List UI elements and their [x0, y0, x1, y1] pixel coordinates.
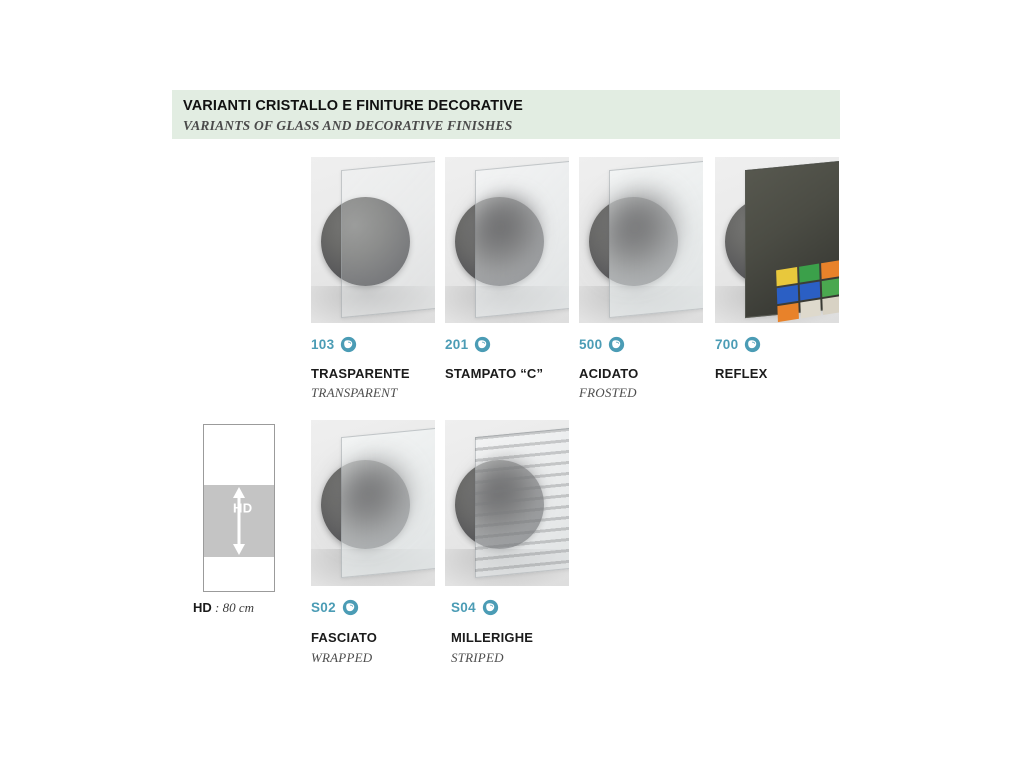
glass-sample-icon — [608, 336, 625, 353]
sample-code: S04 — [451, 600, 476, 615]
hd-dimension-diagram: HD — [203, 424, 275, 592]
sample-code-row-700: 700 — [715, 336, 761, 353]
hd-caption-value: 80 cm — [223, 600, 254, 615]
sample-code-row-103: 103 — [311, 336, 357, 353]
sample-name-en: TRANSPARENT — [311, 385, 397, 401]
sample-image-fasciato — [311, 420, 435, 586]
glass-pane — [609, 160, 703, 318]
sample-name-en: WRAPPED — [311, 650, 372, 666]
sample-code-row-500: 500 — [579, 336, 625, 353]
checker-swatch — [799, 281, 820, 300]
diffused-sphere — [465, 191, 540, 280]
checker-swatch — [822, 278, 839, 297]
sample-image-stampato-c — [445, 157, 569, 323]
sample-code: 201 — [445, 337, 468, 352]
diffused-sphere — [597, 188, 678, 283]
sample-code: 500 — [579, 337, 602, 352]
checker-swatch — [821, 260, 839, 279]
sample-card-S04[interactable] — [445, 420, 569, 586]
checker-swatch — [823, 296, 839, 315]
glass-pane — [341, 426, 435, 578]
sample-card-700[interactable] — [715, 157, 839, 323]
sample-image-millerighe — [445, 420, 569, 586]
color-checker — [776, 260, 839, 322]
catalog-page: VARIANTI CRISTALLO E FINITURE DECORATIVE… — [0, 0, 1024, 768]
sample-image-acidato — [579, 157, 703, 323]
sample-card-S02[interactable] — [311, 420, 435, 586]
checker-swatch — [799, 263, 820, 282]
page-title: VARIANTI CRISTALLO E FINITURE DECORATIVE — [183, 98, 523, 114]
sample-code: S02 — [311, 600, 336, 615]
hd-band-label: HD — [233, 501, 253, 516]
sample-name-en: FROSTED — [579, 385, 637, 401]
sample-image-reflex — [715, 157, 839, 323]
diffused-sphere — [331, 456, 410, 544]
checker-swatch — [777, 303, 798, 322]
sample-code: 103 — [311, 337, 334, 352]
sample-name: STAMPATO “C” — [445, 366, 543, 381]
hd-caption-label: HD — [193, 600, 212, 615]
hd-caption-separator: : — [212, 600, 223, 615]
checker-swatch — [776, 267, 797, 286]
hd-caption: HD : 80 cm — [193, 600, 254, 616]
sample-name: TRASPARENTE — [311, 366, 410, 381]
checker-swatch — [777, 285, 798, 304]
glass-pane — [341, 160, 435, 318]
sample-name-en: STRIPED — [451, 650, 504, 666]
glass-sample-icon — [744, 336, 761, 353]
sample-name: FASCIATO — [311, 630, 377, 645]
sample-name: MILLERIGHE — [451, 630, 533, 645]
sample-name: ACIDATO — [579, 366, 638, 381]
glass-pane — [475, 160, 569, 318]
checker-swatch — [800, 299, 821, 318]
glass-sample-icon — [474, 336, 491, 353]
sample-card-500[interactable] — [579, 157, 703, 323]
sample-code-row-S04: S04 — [451, 599, 499, 616]
stripe-pattern — [475, 427, 569, 576]
glass-sample-icon — [340, 336, 357, 353]
sample-code-row-201: 201 — [445, 336, 491, 353]
hd-double-arrow-icon — [231, 487, 247, 555]
sample-card-201[interactable] — [445, 157, 569, 323]
sample-code-row-S02: S02 — [311, 599, 359, 616]
glass-sample-icon — [482, 599, 499, 616]
sample-name: REFLEX — [715, 366, 767, 381]
sample-image-transparent — [311, 157, 435, 323]
glass-sample-icon — [342, 599, 359, 616]
sample-code: 700 — [715, 337, 738, 352]
sample-card-103[interactable] — [311, 157, 435, 323]
page-subtitle: VARIANTS OF GLASS AND DECORATIVE FINISHE… — [183, 118, 512, 134]
